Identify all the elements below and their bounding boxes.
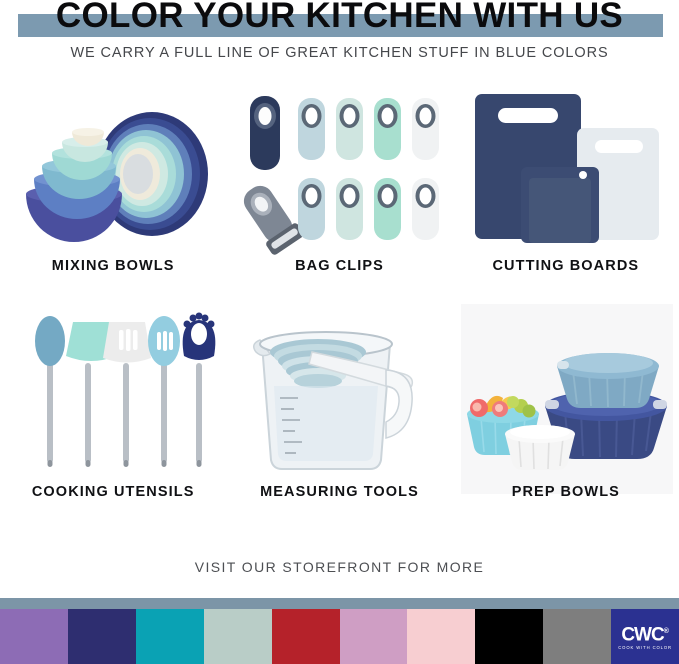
swatch-red <box>272 609 340 664</box>
product-grid: MIXING BOWLS <box>0 76 679 528</box>
swatch-gray <box>543 609 611 664</box>
nested-mixing-bowls-icon <box>0 82 226 257</box>
product-label: PREP BOWLS <box>453 484 679 500</box>
footer-rule <box>0 598 679 609</box>
swatch-indigo <box>68 609 136 664</box>
product-label: MEASURING TOOLS <box>226 484 452 500</box>
page-header: COLOR YOUR KITCHEN WITH US WE CARRY A FU… <box>0 0 679 72</box>
storefront-cta[interactable]: VISIT OUR STOREFRONT FOR MORE <box>0 559 679 575</box>
product-cell-bag-clips[interactable]: BAG CLIPS <box>226 76 452 302</box>
swatch-purple <box>0 609 68 664</box>
product-label: COOKING UTENSILS <box>0 484 226 500</box>
product-cell-cutting-boards[interactable]: CUTTING BOARDS <box>453 76 679 302</box>
swatch-mauve <box>340 609 408 664</box>
brand-mark: CWC® <box>621 623 669 644</box>
brand-logo[interactable]: CWC® COOK WITH COLOR <box>611 609 679 664</box>
swatch-blush <box>407 609 475 664</box>
registered-icon: ® <box>664 628 669 635</box>
page-title: COLOR YOUR KITCHEN WITH US <box>0 0 679 36</box>
prep-bowls-icon <box>453 308 679 483</box>
product-label: CUTTING BOARDS <box>453 258 679 274</box>
brand-tagline: COOK WITH COLOR <box>618 645 672 650</box>
swatch-teal <box>136 609 204 664</box>
swatch-sage <box>204 609 272 664</box>
product-cell-prep-bowls[interactable]: PREP BOWLS <box>453 302 679 528</box>
bag-clips-icon <box>226 82 452 257</box>
page-subtitle: WE CARRY A FULL LINE OF GREAT KITCHEN ST… <box>0 45 679 61</box>
cutting-boards-icon <box>453 82 679 257</box>
color-swatch-strip: CWC® COOK WITH COLOR <box>0 609 679 664</box>
brand-mark-text: CWC <box>621 624 663 645</box>
cooking-utensils-icon <box>0 308 226 483</box>
product-cell-measuring-tools[interactable]: MEASURING TOOLS <box>226 302 452 528</box>
product-label: BAG CLIPS <box>226 258 452 274</box>
product-cell-cooking-utensils[interactable]: COOKING UTENSILS <box>0 302 226 528</box>
measuring-jug-icon <box>226 308 452 483</box>
product-cell-mixing-bowls[interactable]: MIXING BOWLS <box>0 76 226 302</box>
swatch-black <box>475 609 543 664</box>
product-label: MIXING BOWLS <box>0 258 226 274</box>
